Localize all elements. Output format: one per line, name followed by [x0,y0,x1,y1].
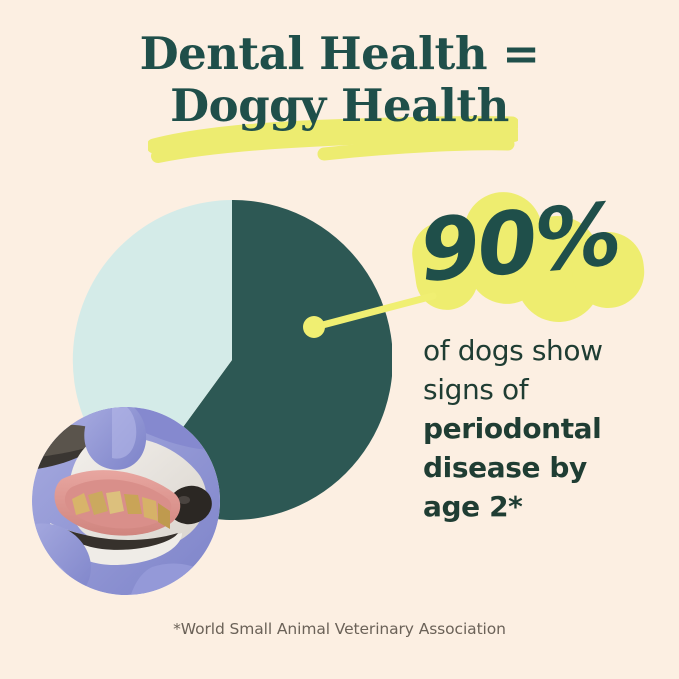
page-title: Dental Health = Doggy Health [0,28,679,132]
body-line-5: age 2* [423,487,665,526]
title-line-2: Doggy Health [0,80,679,132]
stat-number: 90% [415,172,655,312]
source-footnote: *World Small Animal Veterinary Associati… [0,620,679,638]
stat-callout: 90% [412,186,662,326]
body-line-3: periodontal [423,409,665,448]
infographic-canvas: Dental Health = Doggy Health [0,0,679,679]
body-line-2: signs of [423,370,665,409]
stat-description: of dogs show signs of periodontal diseas… [423,331,665,526]
body-line-1: of dogs show [423,331,665,370]
dog-teeth-photo [32,407,220,595]
title-line-1: Dental Health = [0,28,679,80]
dog-teeth-photo-svg [32,407,220,595]
body-line-4: disease by [423,448,665,487]
